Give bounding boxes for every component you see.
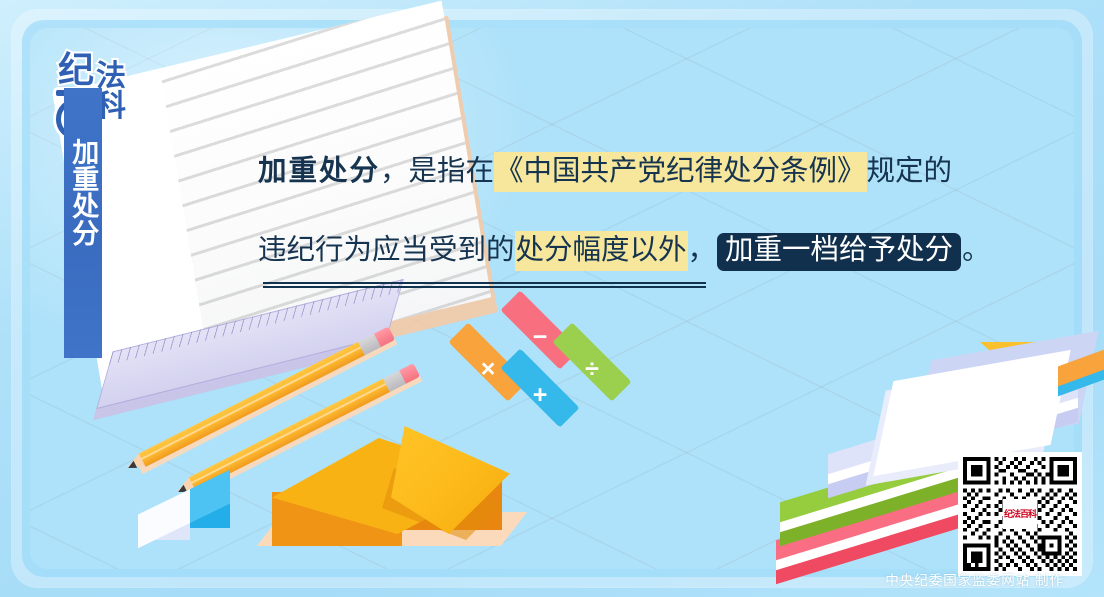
- qr-code[interactable]: 纪法 百科: [958, 452, 1082, 576]
- plus-icon: +: [498, 364, 582, 426]
- qr-stamp-line2: 百科: [1020, 510, 1036, 519]
- line2-comma: ，: [688, 235, 717, 266]
- vertical-title-banner: 加重处分: [64, 88, 102, 358]
- qr-center-logo: 纪法 百科: [1003, 499, 1037, 529]
- term-label: 加重处分: [258, 156, 380, 187]
- line2-prefix: 违纪行为应当受到的: [258, 235, 515, 266]
- definition-line-1: 加重处分，是指在《中国共产党纪律处分条例》规定的: [258, 158, 998, 187]
- definition-line-2: 违纪行为应当受到的处分幅度以外，加重一档给予处分。: [258, 233, 998, 272]
- logo-char-ji: 纪: [58, 52, 94, 88]
- eraser-illustration: [138, 492, 230, 548]
- line2-period: 。: [962, 235, 991, 266]
- emphasis-chip: 加重一档给予处分: [717, 233, 961, 272]
- sticky-note-pad-illustration: [262, 430, 506, 560]
- regulation-highlight: 《中国共产党纪律处分条例》: [494, 152, 867, 192]
- double-underline: [263, 282, 706, 288]
- qr-stamp-line1: 纪法: [1004, 510, 1020, 519]
- math-blocks-illustration: × − ÷ +: [446, 302, 636, 414]
- infographic-canvas: × − ÷ + 纪 法 科 加重处分: [0, 0, 1104, 597]
- definition-text-block: 加重处分，是指在《中国共产党纪律处分条例》规定的 违纪行为应当受到的处分幅度以外…: [258, 158, 998, 271]
- scope-highlight: 处分幅度以外: [515, 231, 688, 271]
- math-block-plus: +: [498, 364, 582, 426]
- line1-connector: ，是指在: [380, 156, 494, 187]
- line1-tail: 规定的: [867, 156, 953, 187]
- vertical-title-text: 加重处分: [69, 138, 98, 246]
- mini-block-illustration: [1058, 358, 1104, 392]
- producer-credit: 中央纪委国家监委网站 制作: [885, 569, 1064, 589]
